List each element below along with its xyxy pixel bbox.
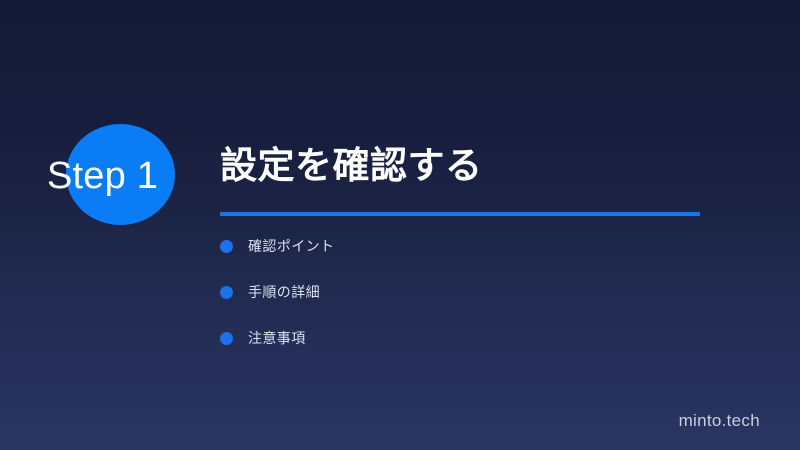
list-item: 手順の詳細 xyxy=(220,280,690,304)
slide-title: 設定を確認する xyxy=(220,143,720,189)
list-item-label: 手順の詳細 xyxy=(248,282,320,302)
bullet-dot-icon xyxy=(220,286,233,299)
bullet-dot-icon xyxy=(220,240,233,253)
bullet-dot-icon xyxy=(220,332,233,345)
watermark-label: minto.tech xyxy=(679,411,760,431)
slide-canvas: Step 1 設定を確認する 確認ポイント 手順の詳細 注意事項 minto.t… xyxy=(0,0,800,450)
list-item: 確認ポイント xyxy=(220,234,690,258)
title-block: 設定を確認する xyxy=(220,143,720,189)
bullet-list: 確認ポイント 手順の詳細 注意事項 xyxy=(220,234,690,372)
step-number-label: Step 1 xyxy=(47,153,207,199)
list-item: 注意事項 xyxy=(220,326,690,350)
title-underline-rule xyxy=(220,212,700,216)
list-item-label: 注意事項 xyxy=(248,328,306,348)
list-item-label: 確認ポイント xyxy=(248,236,334,256)
